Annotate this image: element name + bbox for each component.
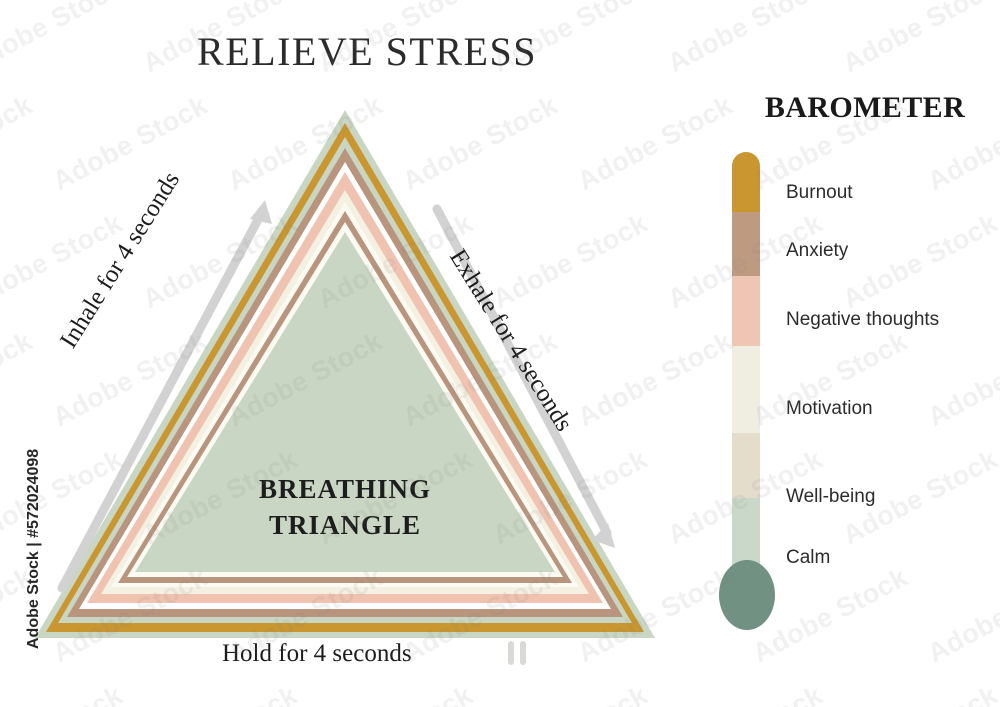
breathing-triangle-graphic — [35, 110, 655, 638]
triangle-center-label-line1: BREATHING — [35, 472, 655, 508]
infographic-canvas: RELIEVE STRESS BREATHING TR — [0, 0, 1000, 707]
barometer-segment-anxiety — [732, 212, 760, 276]
stock-credit: Adobe Stock | #572024098 — [25, 449, 43, 649]
barometer-segment-motivation — [732, 346, 760, 433]
barometer-legend: BurnoutAnxietyNegative thoughtsMotivatio… — [786, 152, 996, 572]
barometer-segment-negative-thoughts — [732, 276, 760, 346]
watermark-text: Adobe Stock — [0, 326, 38, 433]
pause-icon — [508, 641, 529, 665]
barometer-label-anxiety: Anxiety — [786, 240, 848, 262]
barometer-bulb — [719, 560, 775, 630]
barometer-label-burnout: Burnout — [786, 182, 853, 204]
watermark-text: Adobe Stock — [138, 680, 303, 707]
watermark-text: Adobe Stock — [748, 562, 913, 669]
watermark-text: Adobe Stock — [0, 680, 128, 707]
barometer-label-negative-thoughts: Negative thoughts — [786, 309, 939, 331]
watermark-text: Adobe Stock — [923, 562, 1000, 669]
triangle-center-label-line2: TRIANGLE — [35, 508, 655, 544]
watermark-text: Adobe Stock — [663, 680, 828, 707]
watermark-text: Adobe Stock — [488, 680, 653, 707]
watermark-text: Adobe Stock — [0, 90, 38, 197]
triangle-stripes — [35, 110, 655, 638]
pause-icon-bar-right — [520, 641, 526, 665]
page-title: RELIEVE STRESS — [0, 28, 1000, 75]
triangle-center-label: BREATHING TRIANGLE — [35, 472, 655, 543]
barometer-segment-burnout — [732, 152, 760, 212]
watermark-text: Adobe Stock — [838, 680, 1000, 707]
watermark-text: Adobe Stock — [313, 680, 478, 707]
pause-icon-bar-left — [508, 641, 514, 665]
barometer-label-motivation: Motivation — [786, 398, 873, 420]
page-title-text: RELIEVE STRESS — [197, 28, 537, 75]
hold-label: Hold for 4 seconds — [222, 640, 412, 668]
barometer-label-calm: Calm — [786, 547, 830, 569]
barometer-title: BAROMETER — [740, 91, 990, 125]
barometer-tube — [732, 152, 760, 572]
barometer-label-well-being: Well-being — [786, 486, 875, 508]
barometer-segment-well-being — [732, 433, 760, 498]
